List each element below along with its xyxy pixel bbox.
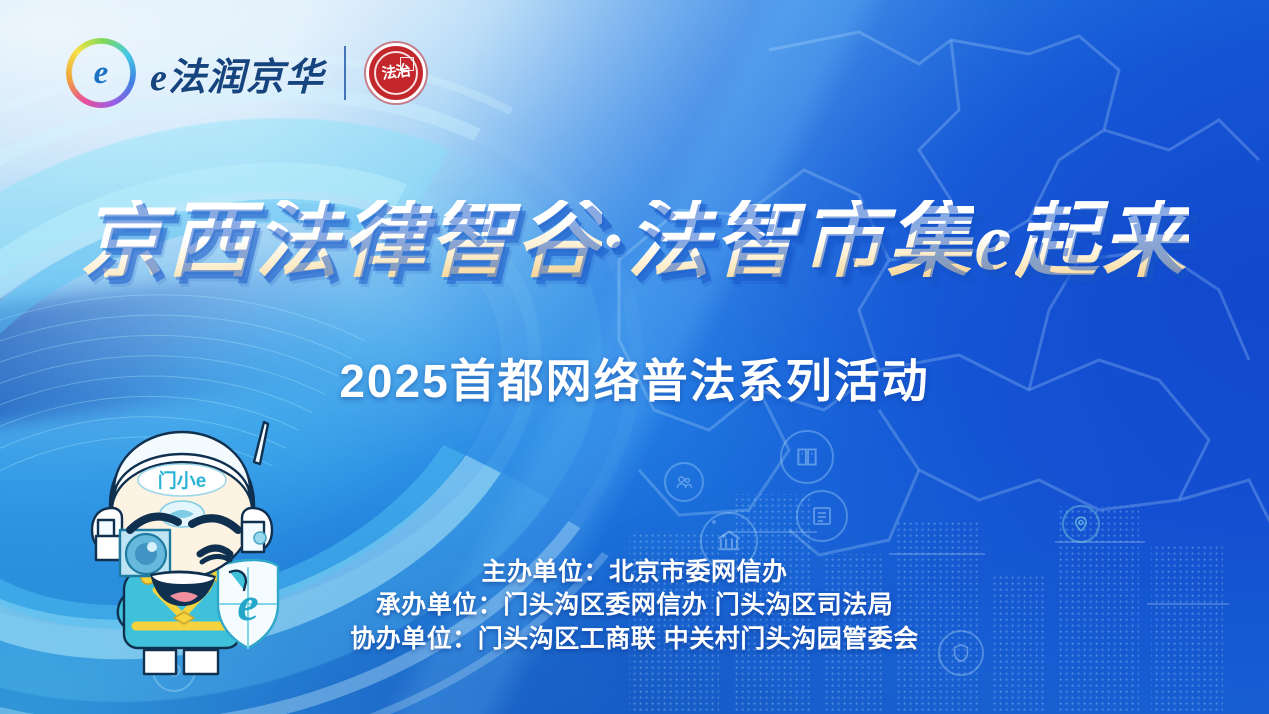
antenna-icon <box>254 422 268 464</box>
promotional-poster: e e法润京华 法治 京西法律智谷·法智市集e起来 2025首都网络普法系列活动… <box>0 0 1269 714</box>
scales-icon <box>712 520 716 524</box>
ar-visor-icon <box>96 536 120 560</box>
header-divider <box>344 46 346 100</box>
men-xiao-e-mascot: e 门小e <box>78 404 296 704</box>
subtitle: 2025首都网络普法系列活动 <box>0 345 1269 411</box>
title-part-3: 起来 <box>1015 200 1189 284</box>
map-pin-icon <box>1062 505 1100 543</box>
brand-wordmark: e法润京华 <box>150 46 324 101</box>
main-title: 京西法律智谷·法智市集e起来 <box>0 200 1269 284</box>
header-logo-bar: e e法润京华 法治 <box>66 38 426 108</box>
red-round-seal-icon: 法治 <box>366 43 426 103</box>
document-icon <box>796 490 848 542</box>
title-separator: · <box>602 200 626 284</box>
seal-badge <box>400 57 414 71</box>
svg-text:e: e <box>237 578 258 631</box>
people-icon <box>664 462 704 502</box>
book-icon <box>780 430 834 484</box>
title-part-2: 法智市集 <box>626 200 974 284</box>
gavel-icon <box>722 534 726 538</box>
title-letter-e: e <box>974 200 1014 284</box>
ring-logo-letter: e <box>82 52 120 94</box>
title-part-1: 京西法律智谷 <box>80 200 602 284</box>
e-swirl-ring-logo-icon: e <box>66 38 136 108</box>
helmet-label: 门小e <box>158 469 207 492</box>
